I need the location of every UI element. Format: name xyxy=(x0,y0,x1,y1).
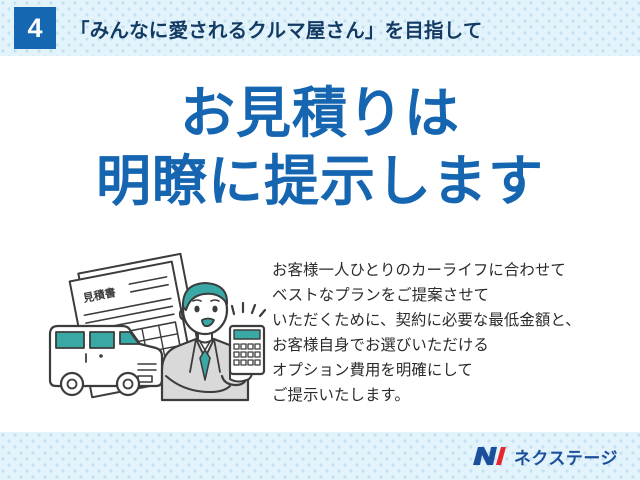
header-band: 4 「みんなに愛されるクルマ屋さん」を目指して xyxy=(0,0,640,56)
headline-line-2: 明瞭に提示します xyxy=(0,150,640,212)
illustration: 見積書 xyxy=(44,252,274,427)
nextage-logo-text: ネクステージ xyxy=(514,444,618,469)
nextage-logo: ネクステージ xyxy=(472,444,618,469)
promo-banner: 4 「みんなに愛されるクルマ屋さん」を目指して お見積りは 明瞭に提示します お… xyxy=(0,0,640,480)
main-content: お見積りは 明瞭に提示します お客様一人ひとりのカーライフに合わせて ベストなプ… xyxy=(0,56,640,432)
paragraph-line: お客様一人ひとりのカーライフに合わせて xyxy=(272,259,622,284)
salesman-quote-van-illustration: 見積書 xyxy=(44,252,274,427)
headline: お見積りは 明瞭に提示します xyxy=(0,82,640,212)
section-number-text: 4 xyxy=(27,15,42,42)
paragraph-line: オプション費用を明確にして xyxy=(272,359,622,384)
description-paragraph: お客様一人ひとりのカーライフに合わせて ベストなプランをご提案させて いただくた… xyxy=(272,259,622,409)
calculator-icon xyxy=(230,326,264,374)
nextage-n-mark-icon xyxy=(472,445,506,467)
footer-band: ネクステージ xyxy=(0,432,640,480)
paragraph-line: ご提示いたします。 xyxy=(272,384,622,409)
sparkle-icon xyxy=(232,303,265,316)
paragraph-line: お客様自身でお選びいただける xyxy=(272,334,622,359)
headline-line-1: お見積りは xyxy=(0,82,640,144)
paragraph-line: ベストなプランをご提案させて xyxy=(272,284,622,309)
paragraph-line: いただくために、契約に必要な最低金額と、 xyxy=(272,309,622,334)
header-title: 「みんなに愛されるクルマ屋さん」を目指して xyxy=(70,14,483,43)
section-number-badge: 4 xyxy=(14,7,56,49)
